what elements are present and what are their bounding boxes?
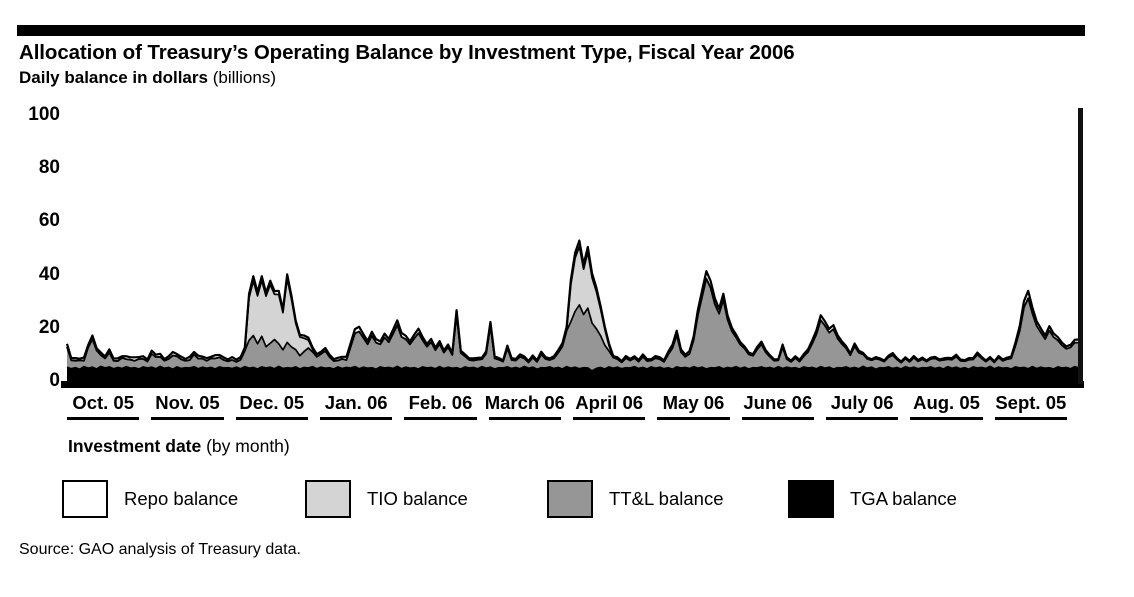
x-axis-month-nov-05: Nov. 05 — [145, 392, 229, 428]
legend-item-tio: TIO balance — [305, 478, 468, 520]
month-underline — [910, 417, 983, 420]
x-axis-month-sept-05: Sept. 05 — [989, 392, 1073, 428]
month-underline — [489, 417, 562, 420]
x-axis-month-feb-06: Feb. 06 — [398, 392, 482, 428]
legend-label-tio: TIO balance — [367, 488, 468, 510]
legend-label-ttl: TT&L balance — [609, 488, 724, 510]
x-axis-month-dec-05: Dec. 05 — [230, 392, 314, 428]
chart-legend: Repo balanceTIO balanceTT&L balanceTGA b… — [62, 478, 1062, 520]
month-underline — [573, 417, 646, 420]
month-label-text: Jan. 06 — [314, 392, 398, 417]
chart-page: Allocation of Treasury’s Operating Balan… — [0, 0, 1134, 597]
legend-item-repo: Repo balance — [62, 478, 238, 520]
month-underline — [742, 417, 815, 420]
x-axis-month-labels: Oct. 05Nov. 05Dec. 05Jan. 06Feb. 06March… — [61, 392, 1084, 432]
x-axis-month-june-06: June 06 — [736, 392, 820, 428]
month-underline — [151, 417, 224, 420]
month-underline — [995, 417, 1068, 420]
x-axis-month-march-06: March 06 — [483, 392, 567, 428]
x-axis-line — [61, 381, 1084, 388]
x-axis-title-bold: Investment date — [68, 436, 201, 456]
top-rule — [17, 25, 1085, 36]
month-underline — [320, 417, 393, 420]
legend-label-tga: TGA balance — [850, 488, 957, 510]
legend-item-ttl: TT&L balance — [547, 478, 724, 520]
month-label-text: June 06 — [736, 392, 820, 417]
x-axis-title-note: (by month) — [206, 436, 290, 456]
month-label-text: March 06 — [483, 392, 567, 417]
month-label-text: Aug. 05 — [904, 392, 988, 417]
month-label-text: Feb. 06 — [398, 392, 482, 417]
month-underline — [67, 417, 140, 420]
legend-swatch-repo — [62, 480, 108, 518]
month-label-text: Sept. 05 — [989, 392, 1073, 417]
legend-swatch-ttl — [547, 480, 593, 518]
x-axis-month-oct-05: Oct. 05 — [61, 392, 145, 428]
month-label-text: Dec. 05 — [230, 392, 314, 417]
x-axis-month-may-06: May 06 — [651, 392, 735, 428]
month-label-text: July 06 — [820, 392, 904, 417]
month-label-text: April 06 — [567, 392, 651, 417]
stacked-area-chart — [0, 95, 1134, 395]
right-axis-line — [1078, 108, 1083, 384]
legend-item-tga: TGA balance — [788, 478, 957, 520]
month-underline — [657, 417, 730, 420]
legend-label-repo: Repo balance — [124, 488, 238, 510]
x-axis-month-april-06: April 06 — [567, 392, 651, 428]
month-underline — [404, 417, 477, 420]
x-axis-month-aug-05: Aug. 05 — [904, 392, 988, 428]
month-label-text: Oct. 05 — [61, 392, 145, 417]
legend-swatch-tga — [788, 480, 834, 518]
legend-swatch-tio — [305, 480, 351, 518]
x-axis-title: Investment date (by month) — [68, 436, 290, 457]
x-axis-month-july-06: July 06 — [820, 392, 904, 428]
month-label-text: May 06 — [651, 392, 735, 417]
y-axis-title-bold: Daily balance in dollars — [19, 68, 208, 87]
x-axis-month-jan-06: Jan. 06 — [314, 392, 398, 428]
month-label-text: Nov. 05 — [145, 392, 229, 417]
month-underline — [826, 417, 899, 420]
y-axis-title-note: (billions) — [213, 68, 276, 87]
month-underline — [236, 417, 309, 420]
plot-area — [0, 95, 1134, 395]
page-title: Allocation of Treasury’s Operating Balan… — [19, 41, 1109, 65]
source-note: Source: GAO analysis of Treasury data. — [19, 541, 301, 559]
y-axis-title: Daily balance in dollars (billions) — [19, 68, 719, 88]
